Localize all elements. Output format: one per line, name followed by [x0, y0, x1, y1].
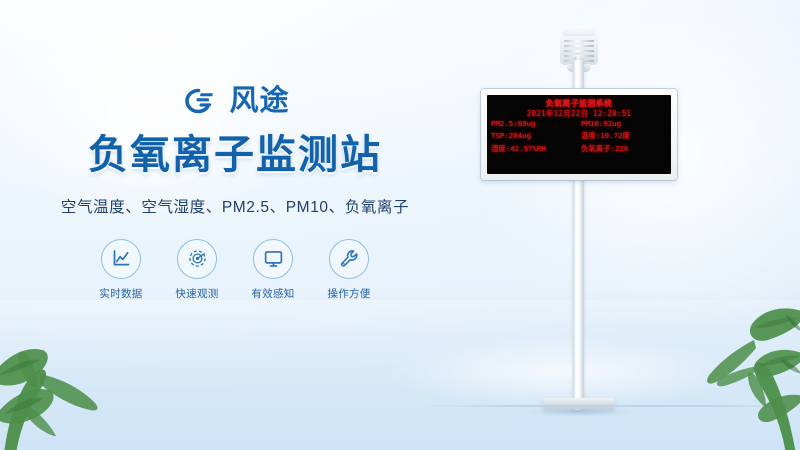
reading-anion: 负氧离子:226: [581, 144, 667, 153]
reading-humidity: 湿度:42.97%RH: [491, 144, 577, 153]
pole-base-plate: [543, 398, 615, 409]
ground-line: [420, 405, 800, 407]
reading-temperature: 温度:10.72度: [581, 131, 667, 140]
led-datetime: 2021年12月22日 12:20:51: [487, 108, 671, 119]
reading-tsp: TSP:204ug: [491, 131, 577, 140]
sensor-fin: [564, 50, 594, 52]
reading-pm10: PM10:92ug: [581, 119, 667, 128]
monitoring-station: 负氧离子监测系统 2021年12月22日 12:20:51 PM2.5:69ug…: [0, 0, 800, 450]
led-screen: 负氧离子监测系统 2021年12月22日 12:20:51 PM2.5:69ug…: [487, 95, 671, 174]
sensor-fin: [564, 40, 594, 42]
led-display-board[interactable]: 负氧离子监测系统 2021年12月22日 12:20:51 PM2.5:69ug…: [481, 89, 677, 180]
product-banner: 风途 负氧离子监测站 空气温度、空气湿度、PM2.5、PM10、负氧离子 实时数…: [0, 0, 800, 450]
reading-pm25: PM2.5:69ug: [491, 119, 577, 128]
led-readings: PM2.5:69ug PM10:92ug TSP:204ug 温度:10.72度…: [491, 119, 667, 153]
sensor-fin: [564, 45, 594, 47]
